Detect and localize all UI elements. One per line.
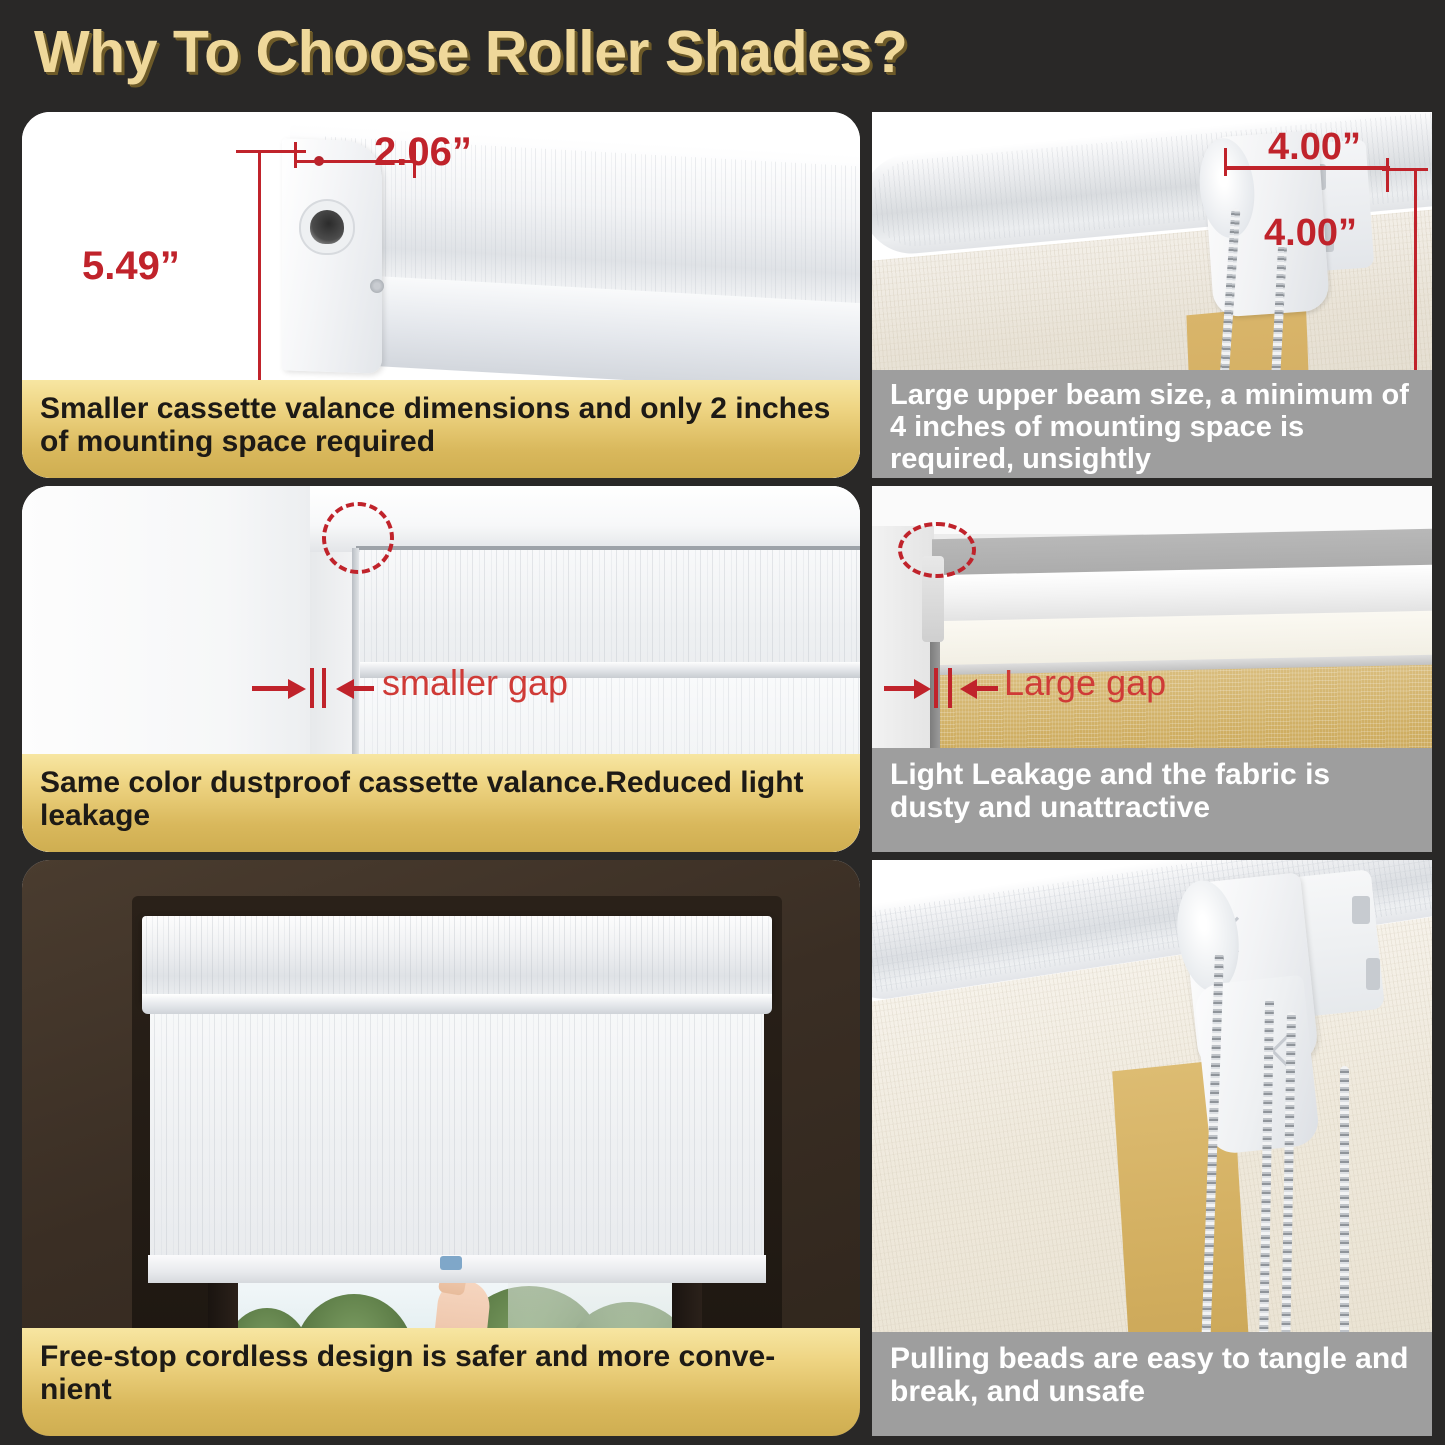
gap-edge-mark-2 xyxy=(948,668,952,708)
gap-label: smaller gap xyxy=(382,662,568,704)
infographic-root: Why To Choose Roller Shades? 5.49” xyxy=(0,0,1445,1445)
dim-v-line xyxy=(258,150,261,400)
bracket-slot xyxy=(310,210,344,244)
dim-v-line xyxy=(1414,168,1417,382)
caption-con-pulling-beads: Pulling beads are easy to tangle and bre… xyxy=(872,1332,1432,1436)
cassette-valance-texture xyxy=(142,916,772,1002)
gap-arrow-left-head xyxy=(914,679,931,699)
gap-arrow-left-shaft xyxy=(252,686,292,691)
gap-arrow-left-head xyxy=(288,679,306,699)
gap-edge-mark-1 xyxy=(310,668,314,708)
gap-label: Large gap xyxy=(1004,662,1166,704)
caption-pro-cordless-design: Free-stop cordless design is safer and m… xyxy=(22,1328,860,1436)
gap-arrow-left-shaft xyxy=(884,686,918,691)
width-dimension-label: 2.06” xyxy=(374,130,472,175)
dim-h-tick-right xyxy=(1386,158,1389,192)
mount-slot-lower xyxy=(1366,958,1380,990)
gap-edge-mark-1 xyxy=(934,668,938,708)
valance-end-cap xyxy=(282,138,382,373)
shade-side-edge xyxy=(352,548,359,788)
panel-con-light-leakage: Large gap Light Leakage and the fabric i… xyxy=(872,486,1432,852)
dim-h-tick-left xyxy=(1224,148,1227,176)
panel-con-pulling-beads: Pulling beads are easy to tangle and bre… xyxy=(872,860,1432,1436)
caption-pro-cassette-dimensions: Smaller cassette valance dimensions and … xyxy=(22,380,860,478)
dim-h-tick-left xyxy=(294,142,297,168)
gap-arrow-right-head xyxy=(960,679,977,699)
height-dimension-label: 5.49” xyxy=(82,244,180,289)
screw-head-icon xyxy=(370,279,384,293)
width-dimension-label: 4.00” xyxy=(1268,126,1361,169)
caption-con-large-beam: Large upper beam size, a minimum of 4 in… xyxy=(872,370,1432,478)
highlight-circle-icon xyxy=(322,502,394,574)
valance-lip xyxy=(142,994,772,1014)
pull-tab xyxy=(440,1256,462,1270)
shade-fabric-texture xyxy=(150,1012,764,1260)
dim-v-tick-top xyxy=(1382,168,1428,171)
mount-slot-upper xyxy=(1352,896,1370,924)
page-title: Why To Choose Roller Shades? xyxy=(34,18,907,86)
gap-arrow-right-shaft xyxy=(352,686,374,691)
panel-pro-dustproof-valance: smaller gap Same color dustproof cassett… xyxy=(22,486,860,852)
highlight-circle-icon xyxy=(898,522,976,578)
panel-pro-cassette-dimensions: 5.49” 2.06” Smaller cassette valance dim… xyxy=(22,112,860,478)
bead-chain-4 xyxy=(1340,1066,1349,1356)
height-dimension-label: 4.00” xyxy=(1264,212,1357,255)
gap-arrow-right-shaft xyxy=(976,686,998,691)
gap-edge-mark-2 xyxy=(322,668,326,708)
panel-grid: 5.49” 2.06” Smaller cassette valance dim… xyxy=(0,104,1445,1445)
panel-con-large-beam: 4.00” 4.00” Large upper beam size, a min… xyxy=(872,112,1432,478)
caption-con-light-leakage: Light Leakage and the fabric is dusty an… xyxy=(872,748,1432,852)
panel-pro-cordless-design: Free-stop cordless design is safer and m… xyxy=(22,860,860,1436)
caption-pro-dustproof-valance: Same color dustproof cassette valance.Re… xyxy=(22,754,860,852)
